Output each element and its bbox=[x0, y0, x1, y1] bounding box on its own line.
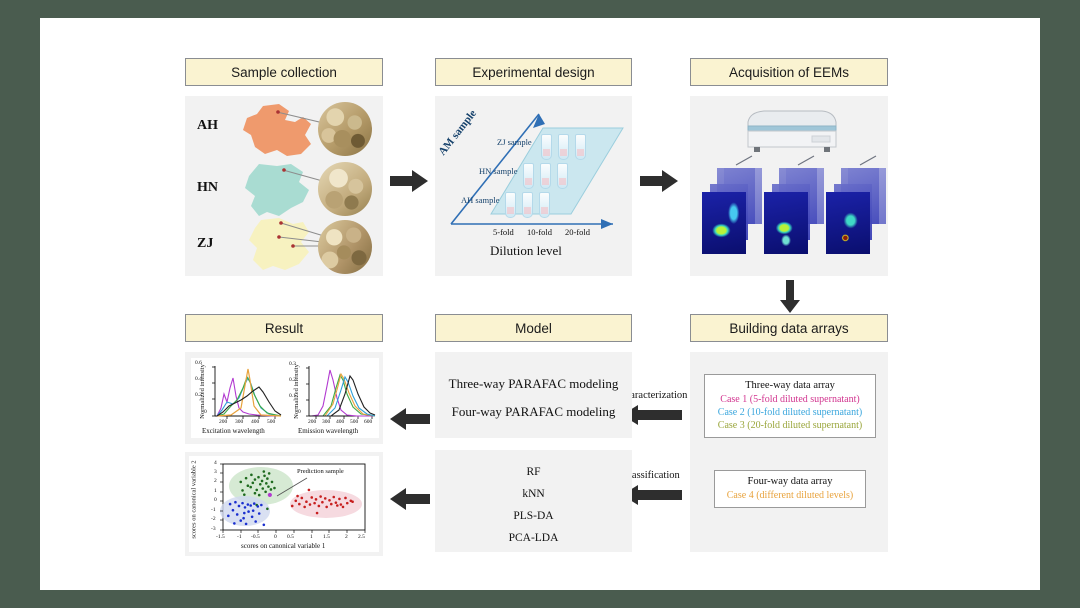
scatter-ytick--2: -2 bbox=[211, 516, 216, 522]
stack-tick-icon bbox=[734, 154, 756, 168]
herb-photo-AH bbox=[318, 102, 372, 156]
excitation-xtick-500: 500 bbox=[267, 419, 275, 425]
vial bbox=[575, 134, 586, 160]
vial bbox=[505, 192, 516, 218]
scatter-xtick--1: -1 bbox=[237, 534, 242, 540]
scatter-ytick-3: 3 bbox=[214, 469, 217, 475]
arrow-design-to-acquisition bbox=[640, 168, 680, 194]
chart-canonical-scores: Prediction sample -3 -2 -1 0 1 2 3 4 -1.… bbox=[189, 456, 379, 552]
scatter-xlabel: scores on canonical variable 1 bbox=[241, 542, 325, 550]
herb-photo-HN bbox=[318, 162, 372, 216]
classifier-rf: RF bbox=[435, 466, 632, 478]
case-2: Case 2 (10-fold diluted supernatant) bbox=[711, 406, 869, 419]
scatter-ytick--3: -3 bbox=[211, 526, 216, 532]
scatter-xtick--0.5: -0.5 bbox=[251, 534, 260, 540]
design-row-label-HN: HN sample bbox=[479, 166, 517, 176]
panel-acquisition bbox=[690, 96, 888, 276]
case-3: Case 3 (20-fold diluted supernatant) bbox=[711, 419, 869, 432]
vial bbox=[522, 192, 533, 218]
scatter-xtick-1: 1 bbox=[310, 534, 313, 540]
header-sample-collection: Sample collection bbox=[185, 58, 383, 86]
design-row-label-AH: AH sample bbox=[461, 195, 499, 205]
header-label: Sample collection bbox=[231, 65, 337, 80]
scatter-xtick--1.5: -1.5 bbox=[216, 534, 225, 540]
scatter-ytick-2: 2 bbox=[214, 478, 217, 484]
vial bbox=[539, 192, 550, 218]
vial bbox=[557, 163, 568, 189]
four-way-array-box: Four-way data array Case 4 (different di… bbox=[714, 470, 866, 508]
vial bbox=[558, 134, 569, 160]
scatter-annotation: Prediction sample bbox=[297, 468, 344, 475]
panel-result-scatter: Prediction sample -3 -2 -1 0 1 2 3 4 -1.… bbox=[185, 452, 383, 556]
header-building-arrays: Building data arrays bbox=[690, 314, 888, 342]
parafac-three-way: Three-way PARAFAC modeling bbox=[435, 376, 632, 392]
header-experimental-design: Experimental design bbox=[435, 58, 632, 86]
classifier-knn: kNN bbox=[435, 488, 632, 500]
header-label: Building data arrays bbox=[729, 321, 848, 336]
region-label-HN: HN bbox=[197, 180, 218, 196]
panel-sample-collection: AH HN ZJ bbox=[185, 96, 383, 276]
three-way-array-box: Three-way data array Case 1 (5-fold dilu… bbox=[704, 374, 876, 438]
classifier-pcalda: PCA-LDA bbox=[435, 532, 632, 544]
dilution-tick-20fold: 20-fold bbox=[565, 227, 590, 237]
scatter-ytick-0: 0 bbox=[214, 497, 217, 503]
dilution-tick-5fold: 5-fold bbox=[493, 227, 514, 237]
stack-tick-icon bbox=[796, 154, 818, 168]
chart-excitation-loadings: 0.6 0.4 0.2 0 200 300 400 500 Excitation… bbox=[191, 358, 285, 438]
panel-result-spectra: 0.6 0.4 0.2 0 200 300 400 500 Excitation… bbox=[185, 352, 383, 444]
excitation-xtick-200: 200 bbox=[219, 419, 227, 425]
header-result: Result bbox=[185, 314, 383, 342]
emission-xtick-200: 200 bbox=[308, 419, 316, 425]
header-label: Result bbox=[265, 321, 303, 336]
spectrometer-icon bbox=[738, 104, 848, 158]
scatter-xtick-2.5: 2.5 bbox=[358, 534, 365, 540]
scatter-xtick-0.5: 0.5 bbox=[287, 534, 294, 540]
emission-xtick-300: 300 bbox=[322, 419, 330, 425]
panel-model-parafac: Three-way PARAFAC modeling Four-way PARA… bbox=[435, 352, 632, 438]
header-label: Experimental design bbox=[472, 65, 594, 80]
header-acquisition: Acquisition of EEMs bbox=[690, 58, 888, 86]
three-way-heading: Three-way data array bbox=[711, 380, 869, 391]
design-x-axis-label: Dilution level bbox=[490, 243, 562, 259]
scatter-ylabel: scores on canonical variable 2 bbox=[191, 460, 198, 538]
panel-experimental-design: AM sample ZJ sample HN sample AH sample … bbox=[435, 96, 632, 276]
eem-stack bbox=[764, 168, 826, 254]
design-row-label-ZJ: ZJ sample bbox=[497, 137, 532, 147]
eem-stack bbox=[826, 168, 888, 254]
vial bbox=[541, 134, 552, 160]
case-1: Case 1 (5-fold diluted supernatant) bbox=[711, 393, 869, 406]
figure-canvas: Sample collection Experimental design Ac… bbox=[40, 18, 1040, 590]
classifier-plsda: PLS-DA bbox=[435, 510, 632, 522]
region-label-AH: AH bbox=[197, 118, 218, 134]
chart-emission-loadings: 0.3 0.2 0.1 0 200 300 400 500 600 Emissi… bbox=[285, 358, 379, 438]
panel-model-classifiers: RF kNN PLS-DA PCA-LDA bbox=[435, 450, 632, 552]
vial bbox=[540, 163, 551, 189]
excitation-xtick-300: 300 bbox=[235, 419, 243, 425]
arrow-acquisition-to-arrays bbox=[778, 280, 802, 314]
eem-stack bbox=[702, 168, 764, 254]
arrow-classifiers-to-result bbox=[388, 486, 432, 512]
region-label-ZJ: ZJ bbox=[197, 236, 213, 252]
emission-xtick-600: 600 bbox=[364, 419, 372, 425]
header-label: Model bbox=[515, 321, 552, 336]
stack-tick-icon bbox=[858, 154, 880, 168]
scatter-xtick-2: 2 bbox=[345, 534, 348, 540]
excitation-xtick-400: 400 bbox=[251, 419, 259, 425]
herb-photo-ZJ bbox=[318, 220, 372, 274]
arrow-collection-to-design bbox=[390, 168, 430, 194]
scatter-ytick--1: -1 bbox=[211, 507, 216, 513]
scatter-ytick-4: 4 bbox=[214, 460, 217, 466]
scatter-ytick-1: 1 bbox=[214, 488, 217, 494]
emission-xtick-400: 400 bbox=[336, 419, 344, 425]
excitation-ylabel: Normalized intensity bbox=[199, 364, 206, 419]
emission-xlabel: Emission wavelength bbox=[298, 427, 358, 435]
scatter-xtick-0: 0 bbox=[274, 534, 277, 540]
case-4: Case 4 (different diluted levels) bbox=[721, 489, 859, 502]
scatter-xtick-1.5: 1.5 bbox=[323, 534, 330, 540]
emission-ylabel: Normalized intensity bbox=[293, 364, 300, 419]
panel-building-arrays: Three-way data array Case 1 (5-fold dilu… bbox=[690, 352, 888, 552]
parafac-four-way: Four-way PARAFAC modeling bbox=[435, 404, 632, 420]
vial bbox=[523, 163, 534, 189]
header-model: Model bbox=[435, 314, 632, 342]
header-label: Acquisition of EEMs bbox=[729, 65, 849, 80]
arrow-model-to-result bbox=[388, 406, 432, 432]
emission-xtick-500: 500 bbox=[350, 419, 358, 425]
four-way-heading: Four-way data array bbox=[721, 476, 859, 487]
dilution-tick-10fold: 10-fold bbox=[527, 227, 552, 237]
excitation-xlabel: Excitation wavelength bbox=[202, 427, 265, 435]
